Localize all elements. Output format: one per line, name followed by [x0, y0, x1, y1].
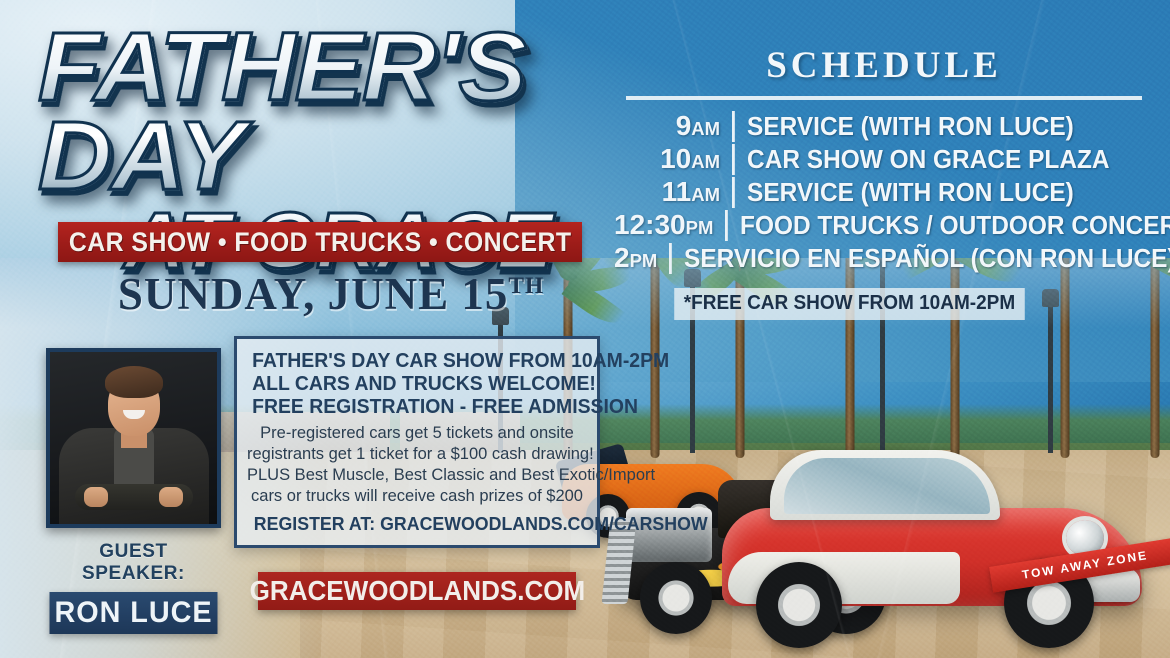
schedule-time-meridiem: PM [686, 217, 714, 238]
event-flyer: 1957 TOW AWAY ZONE Father's Day At Grace… [0, 0, 1170, 658]
info-body-4: cars or trucks will receive cash prizes … [247, 486, 587, 507]
schedule-time: 12:30PM [614, 209, 725, 241]
free-car-show-note: *FREE CAR SHOW FROM 10AM-2PM [674, 288, 1024, 320]
schedule-time-value: 9 [676, 110, 692, 141]
website-url: GRACEWOODLANDS.COM [249, 575, 585, 607]
event-date: Sunday, June 15TH [96, 268, 566, 320]
schedule-row: 11AM SERVICE (WITH RON LUCE) [614, 176, 1154, 208]
speaker-portrait [46, 348, 221, 528]
schedule-heading: SCHEDULE [614, 44, 1154, 87]
schedule-row: 12:30PM FOOD TRUCKS / OUTDOOR CONCERT [614, 209, 1154, 241]
schedule-time-value: 11 [662, 176, 692, 207]
schedule-row: 9AM SERVICE (WITH RON LUCE) [614, 110, 1154, 142]
schedule-description: CAR SHOW ON GRACE PLAZA [732, 144, 1129, 175]
schedule-description: FOOD TRUCKS / OUTDOOR CONCERT [725, 210, 1170, 241]
info-register-line: REGISTER AT: GRACEWOODLANDS.COM/CARSHOW [254, 513, 580, 535]
schedule-time: 10AM [614, 143, 732, 175]
schedule-time-meridiem: AM [691, 118, 720, 139]
schedule-description: SERVICE (WITH RON LUCE) [732, 177, 1129, 208]
schedule-time: 9AM [614, 110, 732, 142]
schedule-description: SERVICIO EN ESPAÑOL (CON RON LUCE) [669, 243, 1170, 274]
schedule-section: SCHEDULE 9AM SERVICE (WITH RON LUCE) 10A… [614, 44, 1154, 274]
guest-speaker-label: GUEST SPEAKER: [46, 541, 221, 585]
info-body-2: registrants get 1 ticket for a $100 cash… [247, 444, 587, 465]
schedule-row: 2PM SERVICIO EN ESPAÑOL (CON RON LUCE) [614, 242, 1154, 274]
guest-speaker-section: GUEST SPEAKER: RON LUCE [46, 348, 221, 634]
car-show-info-panel: FATHER'S DAY CAR SHOW FROM 10AM-2PM ALL … [234, 336, 600, 548]
schedule-time-meridiem: AM [691, 151, 720, 172]
guest-speaker-name: RON LUCE [50, 592, 218, 634]
info-body-3: PLUS Best Muscle, Best Classic and Best … [247, 465, 587, 486]
tagline-banner: CAR SHOW • FOOD TRUCKS • CONCERT [58, 222, 582, 262]
schedule-time-value: 2 [614, 242, 630, 273]
schedule-divider [626, 96, 1142, 100]
schedule-time-meridiem: PM [630, 250, 658, 271]
info-headline-3: FREE REGISTRATION - FREE ADMISSION [252, 396, 582, 419]
schedule-time: 2PM [614, 242, 669, 274]
schedule-rows: 9AM SERVICE (WITH RON LUCE) 10AM CAR SHO… [614, 110, 1154, 274]
info-headline-1: FATHER'S DAY CAR SHOW FROM 10AM-2PM [252, 350, 582, 373]
schedule-time-value: 10 [660, 143, 691, 174]
schedule-description: SERVICE (WITH RON LUCE) [732, 111, 1129, 142]
event-date-text: Sunday, June 15 [118, 269, 509, 319]
schedule-time-value: 12:30 [614, 209, 686, 240]
website-banner[interactable]: GRACEWOODLANDS.COM [258, 572, 576, 610]
info-body-1: Pre-registered cars get 5 tickets and on… [247, 423, 587, 444]
schedule-row: 10AM CAR SHOW ON GRACE PLAZA [614, 143, 1154, 175]
schedule-time-meridiem: AM [691, 184, 720, 205]
info-headline-2: ALL CARS AND TRUCKS WELCOME! [252, 373, 582, 396]
title-line-1: Father's Day [38, 22, 653, 200]
tagline-text: CAR SHOW • FOOD TRUCKS • CONCERT [69, 227, 572, 258]
schedule-time: 11AM [614, 176, 732, 208]
event-date-ordinal: TH [508, 273, 544, 299]
